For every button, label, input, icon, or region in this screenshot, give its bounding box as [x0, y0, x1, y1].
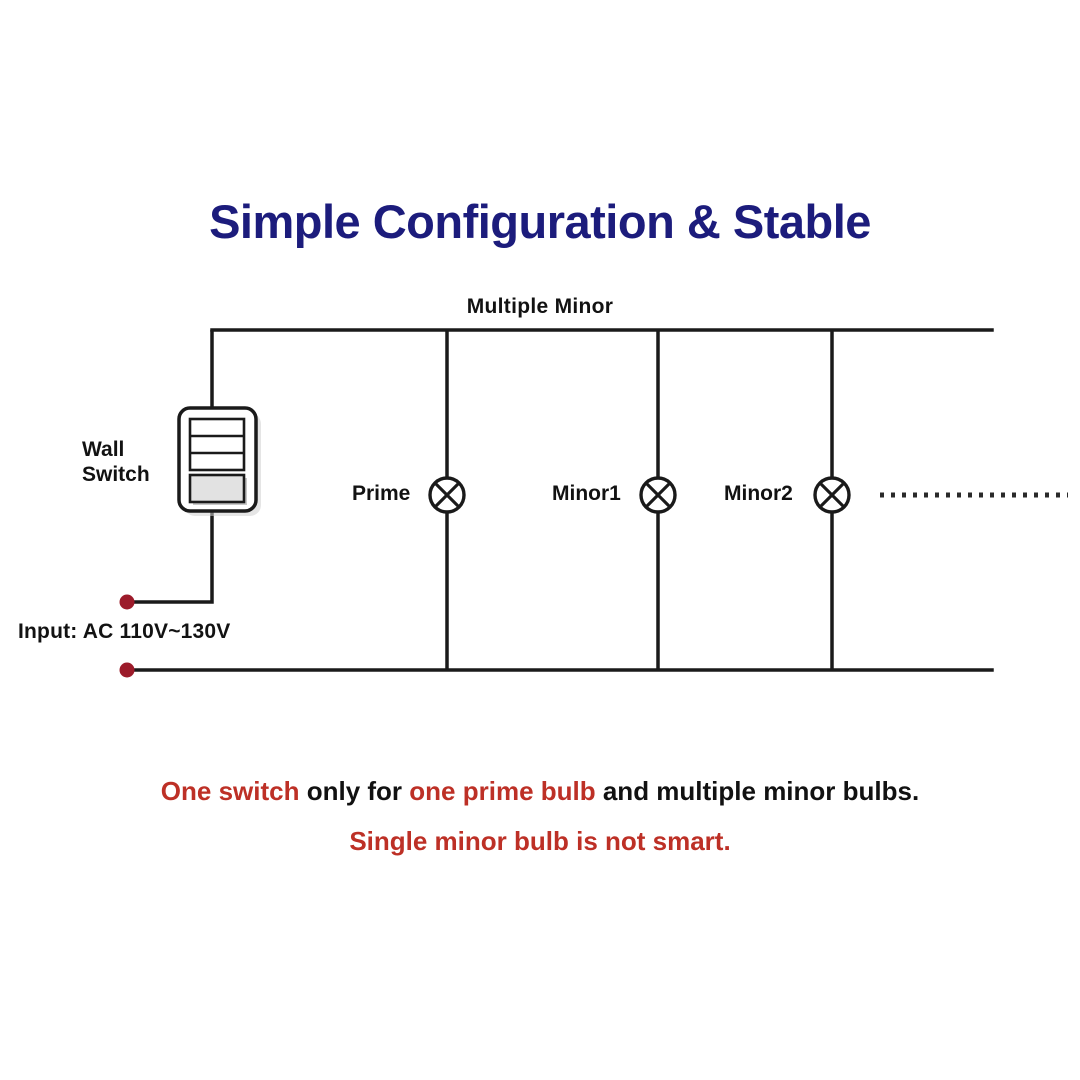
minor2-lamp-x-icon[interactable] — [815, 478, 849, 512]
caption-line-2: Single minor bulb is not smart. — [0, 826, 1080, 857]
input-voltage-label: Input: AC 110V~130V — [18, 620, 231, 644]
wiring-diagram — [0, 0, 1080, 1080]
wall-switch-label-line-1: Wall — [82, 437, 150, 462]
wall-switch-lower-rocker[interactable] — [190, 475, 244, 502]
caption-line-1-part-3: one prime bulb — [409, 776, 595, 806]
minor1-lamp-x-icon[interactable] — [641, 478, 675, 512]
minor1-lamp-label: Minor1 — [552, 482, 621, 506]
caption-line-1-part-2: only for — [300, 776, 410, 806]
wall-switch-symbol[interactable] — [179, 408, 261, 516]
prime-lamp-label: Prime — [352, 482, 410, 506]
wall-switch-label: Wall Switch — [82, 437, 150, 487]
diagram-page: Simple Configuration & Stable — [0, 0, 1080, 1080]
input-terminal-neutral-dot — [120, 663, 135, 678]
caption-line-1-part-1: One switch — [161, 776, 300, 806]
switch-to-input-wire — [129, 510, 212, 602]
lamp-branch-prime — [430, 330, 464, 670]
minor2-lamp-label: Minor2 — [724, 482, 793, 506]
wall-switch-label-line-2: Switch — [82, 462, 150, 487]
multiple-minor-label: Multiple Minor — [0, 295, 1080, 319]
lamp-branch-minor1 — [641, 330, 675, 670]
prime-lamp-x-icon[interactable] — [430, 478, 464, 512]
caption-line-1: One switch only for one prime bulb and m… — [0, 776, 1080, 807]
wall-switch-upper-rocker[interactable] — [190, 419, 244, 470]
caption-line-1-part-4: and multiple minor bulbs. — [596, 776, 920, 806]
input-terminal-live-dot — [120, 595, 135, 610]
lamp-branch-minor2 — [815, 330, 849, 670]
